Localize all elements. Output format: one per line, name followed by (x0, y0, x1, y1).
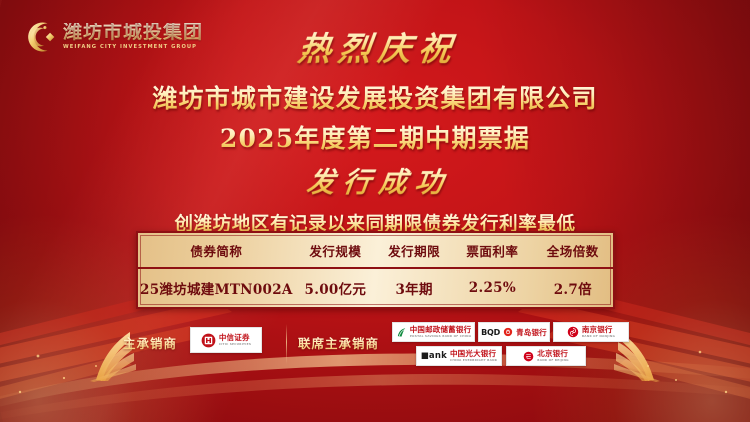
lead-underwriter-label: 主承销商 (123, 333, 177, 352)
logo-company-name-en: WEIFANG CITY INVESTMENT GROUP (63, 45, 203, 50)
cell-subscription-multiple: 2.7倍 (533, 268, 613, 307)
underwriter-section: 主承销商 联席主承销商 (0, 320, 750, 382)
column-header-subscription-multiple: 全场倍数 (533, 233, 613, 268)
bond-details-card: 债券简称 发行规模 发行期限 票面利率 全场倍数 25潍坊城建MTN002A 5… (136, 231, 615, 309)
headline-block: 热烈庆祝 潍坊市城市建设发展投资集团有限公司 2025年度第二期中期票据 发行成… (0, 22, 750, 236)
crescent-diamond-emblem-icon (22, 20, 56, 54)
cell-issue-term: 3年期 (376, 268, 452, 307)
company-logo: 潍坊市城投集团 WEIFANG CITY INVESTMENT GROUP (22, 20, 203, 54)
bond-details-table: 债券简称 发行规模 发行期限 票面利率 全场倍数 25潍坊城建MTN002A 5… (138, 233, 613, 307)
cell-coupon-rate: 2.25% (452, 268, 532, 307)
celebration-banner: 潍坊市城投集团 WEIFANG CITY INVESTMENT GROUP 热烈… (0, 0, 750, 422)
column-header-bond-name: 债券简称 (138, 233, 295, 268)
table-row: 25潍坊城建MTN002A 5.00亿元 3年期 2.25% 2.7倍 (138, 268, 613, 307)
logo-company-name-cn: 潍坊市城投集团 (63, 23, 203, 42)
issuer-company-name: 潍坊市城市建设发展投资集团有限公司 (0, 79, 750, 115)
column-header-issue-size: 发行规模 (295, 233, 376, 268)
bond-series-title: 2025年度第二期中期票据 (0, 119, 750, 155)
issuance-success-title: 发行成功 (0, 161, 750, 201)
underwriter-divider (286, 324, 287, 364)
cell-bond-name: 25潍坊城建MTN002A (138, 268, 295, 307)
cell-issue-size: 5.00亿元 (295, 268, 376, 307)
joint-underwriter-label: 联席主承销商 (298, 333, 379, 352)
table-header-row: 债券简称 发行规模 发行期限 票面利率 全场倍数 (138, 233, 613, 268)
column-header-coupon-rate: 票面利率 (452, 233, 532, 268)
column-header-issue-term: 发行期限 (376, 233, 452, 268)
